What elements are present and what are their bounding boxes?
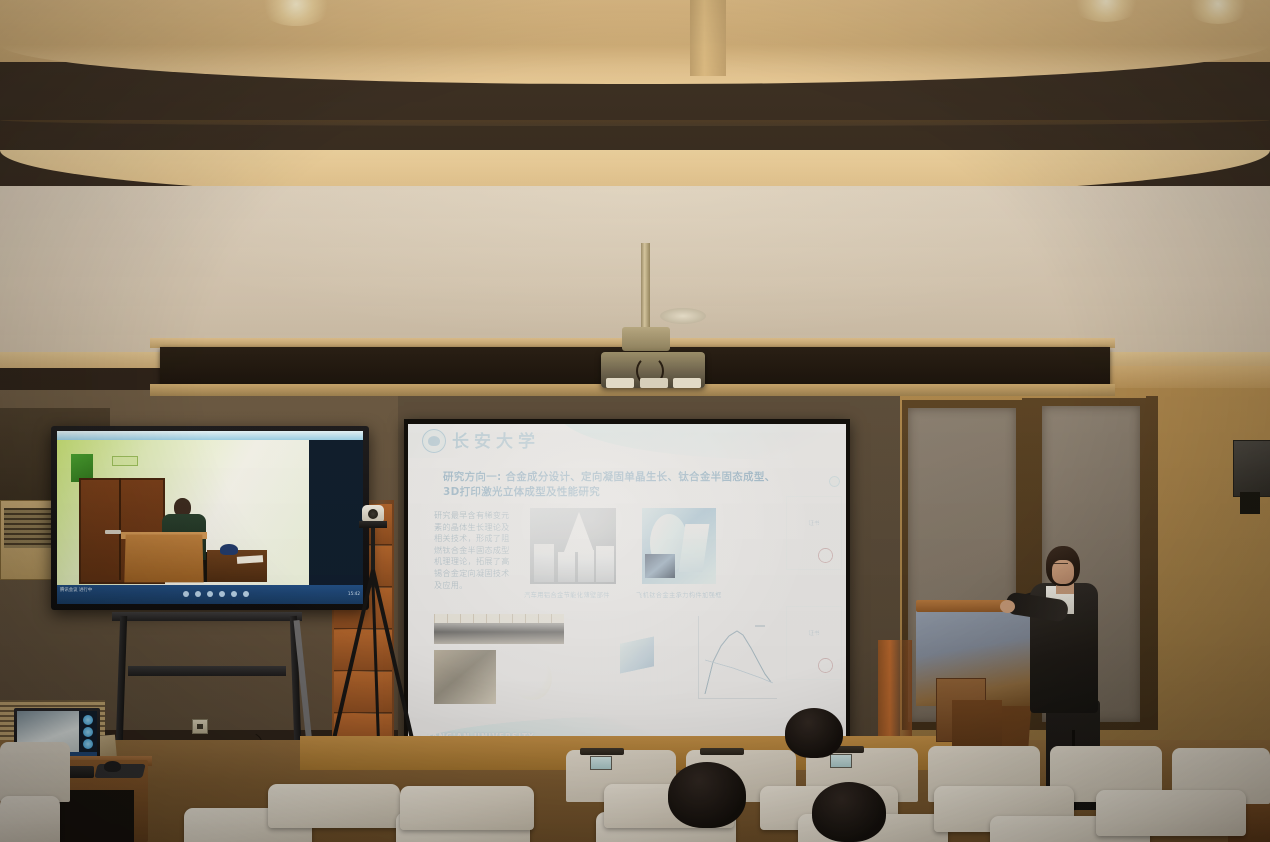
slide-title-line-1: 研究方向一: 合金成分设计、定向凝固单晶生长、钛合金半固态成型、	[443, 470, 818, 485]
vc-door-handle	[105, 530, 121, 534]
loudspeaker-bracket	[1240, 492, 1260, 514]
projector-mount-bracket	[622, 327, 670, 351]
chair-tablet-desk	[580, 748, 624, 755]
vc-podium	[124, 535, 203, 583]
slide-body-text: 研究最早含有稀变元素的晶体生长理论及相关技术，形成了阻燃钛合金半固态成型机理理论…	[434, 510, 516, 591]
slide-corner-dot	[829, 476, 840, 487]
vc-taskbar-text: 腾讯会议 进行中	[60, 588, 92, 594]
presentation-slide: 长安大学 研究方向一: 合金成分设计、定向凝固单晶生长、钛合金半固态成型、 3D…	[408, 424, 846, 749]
camera-lens-icon	[368, 509, 378, 519]
camera-mount-base	[359, 521, 387, 528]
tv-stand-top-bar	[112, 612, 302, 621]
vc-main-video-feed[interactable]	[57, 440, 309, 585]
inset-photo	[645, 554, 675, 578]
wood-slat	[334, 630, 392, 671]
vc-door-split	[119, 478, 121, 580]
audience-chair	[0, 796, 60, 842]
presenter-hand	[1000, 600, 1015, 613]
block-shape	[578, 550, 594, 582]
spike-shape	[564, 512, 594, 552]
taskbar-clock[interactable]: 15:42	[348, 591, 360, 596]
participant-avatar-icon	[83, 739, 93, 749]
projector-lens-center	[640, 378, 668, 388]
wall-mounted-loudspeaker	[1233, 440, 1270, 497]
acoustic-panel-divider	[1146, 396, 1158, 730]
ceiling-rib	[690, 0, 726, 76]
block-shape	[534, 544, 554, 582]
audience-member-head	[812, 782, 886, 842]
figure-aerospace-structure	[642, 508, 716, 584]
video-conference-screen[interactable]: 主持人 共享屏幕 会议室 视频 参会者 参会者 未开摄像 参会者 腾讯会议 进行…	[57, 431, 363, 604]
audience-member-head	[785, 708, 843, 758]
figure-3d-printed-parts	[530, 508, 616, 584]
audience-chair	[268, 784, 400, 828]
slide-title: 研究方向一: 合金成分设计、定向凝固单晶生长、钛合金半固态成型、 3D打印激光立…	[443, 470, 818, 500]
taskbar-app-icon[interactable]	[219, 591, 225, 597]
block-shape	[596, 546, 614, 582]
chart-svg	[699, 616, 777, 698]
computer-mouse[interactable]	[104, 761, 121, 772]
figure-ruler-scale	[434, 614, 564, 623]
audience-chair	[0, 742, 70, 802]
conference-hall-scene: 长安大学 研究方向一: 合金成分设计、定向凝固单晶生长、钛合金半固态成型、 3D…	[0, 0, 1270, 842]
participant-avatar-icon	[83, 715, 93, 725]
taskbar-app-icon[interactable]	[195, 591, 201, 597]
taskbar-app-icon[interactable]	[231, 591, 237, 597]
projector-lens-left	[606, 378, 634, 388]
figure-performance-chart	[698, 616, 777, 699]
particle-shape	[512, 656, 552, 700]
audience-chair	[1096, 790, 1246, 836]
chair-delegate-monitor[interactable]	[830, 754, 852, 768]
vc-exit-sign-icon	[112, 456, 138, 466]
smoke-detector-icon	[660, 308, 706, 324]
figure-caption-left: 汽车用铝合金节能化薄壁部件	[524, 590, 610, 599]
vc-participant-sidebar[interactable]: 主持人 共享屏幕 会议室 视频 参会者 参会者 未开摄像 参会者	[309, 440, 363, 585]
cube-shape	[620, 636, 654, 673]
tv-stand-crossbar	[128, 666, 286, 676]
chair-delegate-monitor[interactable]	[590, 756, 612, 770]
presenter-glasses-icon	[1051, 563, 1068, 569]
figure-micrograph	[434, 650, 496, 704]
projector-mount-pole	[641, 243, 650, 339]
figure-spherical-particle	[500, 650, 564, 704]
certificate-title: 证书	[787, 519, 841, 527]
taskbar-app-icon[interactable]	[183, 591, 189, 597]
air-conditioner-grille	[4, 508, 58, 548]
frame-shape	[679, 524, 710, 572]
certificate-document-bottom: 证书	[786, 606, 842, 680]
certificate-seal-icon	[818, 658, 833, 673]
figure-lattice-simulation	[594, 616, 680, 704]
taskbar-app-icon[interactable]	[207, 591, 213, 597]
slide-title-line-2: 3D打印激光立体成型及性能研究	[443, 485, 818, 500]
figure-caption-right: 飞机钛合金主承力构件加强框	[636, 590, 722, 599]
certificate-document-top: 证书	[786, 496, 842, 570]
taskbar-app-icon[interactable]	[243, 591, 249, 597]
certificate-title: 证书	[787, 629, 841, 637]
audience-chair	[400, 786, 534, 830]
projector-lens-right	[673, 378, 701, 388]
participant-avatar-icon	[83, 727, 93, 737]
certificate-seal-icon	[818, 548, 833, 563]
tripod-center-column	[371, 528, 375, 572]
vc-hat-object	[220, 544, 238, 555]
ceiling-groove	[0, 120, 1270, 126]
university-wordmark: 长安大学	[452, 427, 540, 452]
vc-taskbar[interactable]: 腾讯会议 进行中 15:42	[57, 585, 363, 604]
vc-title-bar	[57, 431, 363, 440]
university-seal-icon	[422, 429, 446, 453]
chair-tablet-desk	[700, 748, 744, 755]
block-shape	[558, 552, 575, 582]
wall-power-outlet	[192, 719, 208, 734]
slide-header: 长安大学	[408, 424, 846, 458]
audience-member-head	[668, 762, 746, 828]
ceiling-upper-curve	[0, 44, 1270, 84]
wood-panel-right	[878, 640, 912, 750]
